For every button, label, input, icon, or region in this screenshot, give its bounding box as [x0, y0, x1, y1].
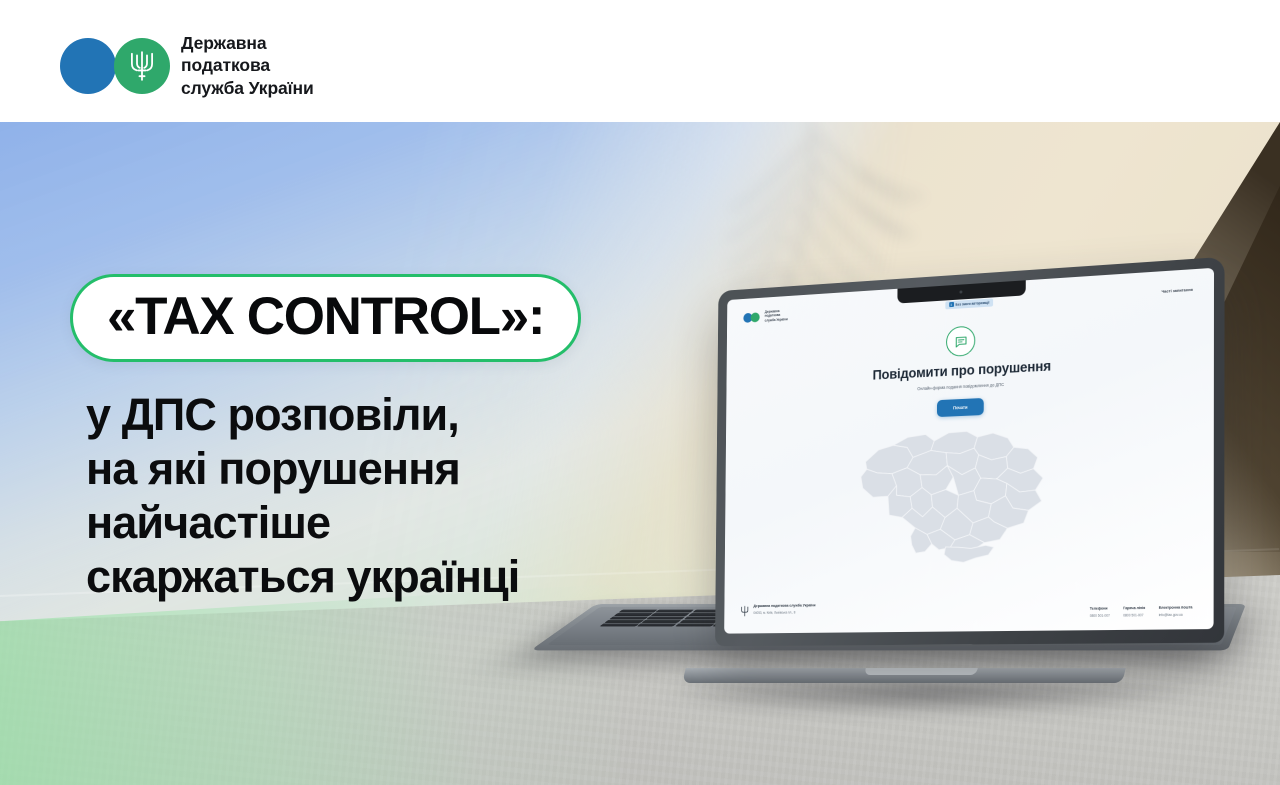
headline-subtext: у ДПС розповіли, на які порушення найчас…	[86, 388, 581, 604]
laptop-mockup: Державна податкова служба України i Без …	[596, 152, 1246, 682]
map-regions	[860, 428, 1043, 554]
speech-bubble-icon	[946, 325, 975, 357]
web-page: Державна податкова служба України i Без …	[724, 268, 1214, 634]
top-brand-bar: Державна податкова служба України	[0, 0, 1280, 122]
footer-contact-email: Електронна пошта info@tax.gov.ua	[1159, 605, 1193, 617]
ukraine-map[interactable]	[724, 405, 1213, 605]
banner-stage: Державна податкова служба України i Без …	[0, 0, 1280, 785]
footer-address: 04053, м. Київ, Львівська пл., 8	[753, 610, 815, 615]
auth-status-label: Без змоги авторизації	[956, 300, 990, 306]
footer-contact-hotline: Гаряча лінія 0800 501-007	[1123, 606, 1145, 618]
green-circle-trident-icon	[114, 38, 170, 94]
headline-block: «TAX CONTROL»: у ДПС розповіли, на які п…	[70, 274, 581, 604]
blue-circle-icon	[60, 38, 116, 94]
laptop-screen: Державна податкова служба України i Без …	[724, 268, 1214, 634]
tax-control-badge-label: «TAX CONTROL»:	[107, 290, 544, 343]
page-logo[interactable]: Державна податкова служба України	[743, 308, 788, 324]
footer-col-value[interactable]: 0800 501-007	[1090, 614, 1110, 618]
laptop-lid-latch	[864, 668, 978, 675]
info-icon: i	[949, 302, 954, 307]
faq-link[interactable]: Часті запитання	[1162, 287, 1193, 293]
dps-logo: Державна податкова служба України	[60, 32, 314, 99]
camera-icon	[959, 290, 962, 293]
footer-contact-columns: Телефони 0800 501-007 Гаряча лінія 0800 …	[1090, 605, 1193, 618]
tax-control-badge: «TAX CONTROL»:	[70, 274, 581, 362]
page-logo-text: Державна податкова служба України	[765, 308, 788, 322]
footer-col-value[interactable]: info@tax.gov.ua	[1159, 613, 1193, 618]
footer-col-value[interactable]: 0800 501-007	[1123, 613, 1145, 617]
footer-col-header: Телефони	[1090, 606, 1110, 610]
footer-col-header: Електронна пошта	[1159, 605, 1193, 610]
footer-col-header: Гаряча лінія	[1123, 606, 1145, 610]
laptop-lid: Державна податкова служба України i Без …	[715, 257, 1225, 647]
footer-contact-phones: Телефони 0800 501-007	[1090, 606, 1110, 618]
laptop-drop-shadow	[661, 680, 1190, 714]
green-circle-icon	[751, 312, 760, 322]
footer-org-block: Державна податкова служба України 04053,…	[741, 603, 816, 622]
trident-icon	[741, 604, 749, 622]
dps-logo-marks	[60, 38, 170, 94]
start-button[interactable]: Почати	[937, 398, 985, 417]
dps-logo-text: Державна податкова служба України	[181, 32, 314, 99]
page-logo-marks	[743, 312, 761, 323]
